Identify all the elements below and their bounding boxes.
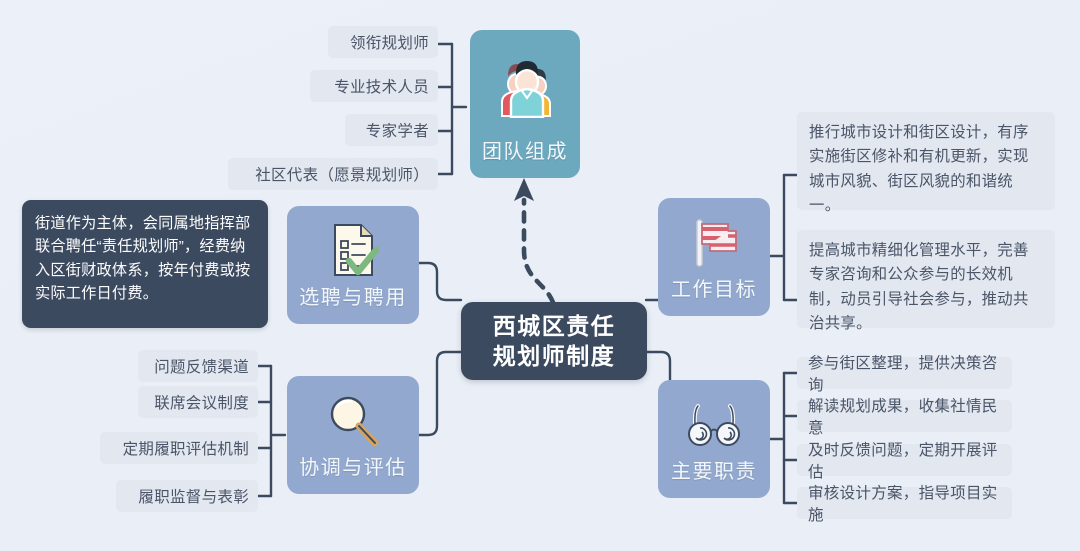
magnifier-icon bbox=[287, 376, 419, 451]
leaf-item-team-0[interactable]: 领衔规划师 bbox=[328, 26, 438, 58]
leaf-item-coordinate-3[interactable]: 履职监督与表彰 bbox=[116, 480, 258, 512]
people-group-icon bbox=[470, 30, 580, 135]
leaf-item-goals-1[interactable]: 提高城市精细化管理水平，完善专家咨询和公众参与的长效机制，动员引导社会参与，推动… bbox=[797, 230, 1055, 328]
branch-label-goals: 工作目标 bbox=[671, 273, 757, 316]
flag-icon bbox=[658, 198, 770, 273]
branch-label-team: 团队组成 bbox=[482, 135, 568, 178]
leaf-item-team-2[interactable]: 专家学者 bbox=[345, 114, 438, 146]
leaf-item-team-1[interactable]: 专业技术人员 bbox=[310, 70, 438, 102]
leaf-item-goals-0[interactable]: 推行城市设计和街区设计，有序实施街区修补和有机更新，实现城市风貌、街区风貌的和谐… bbox=[797, 112, 1055, 210]
leaf-item-duties-3[interactable]: 审核设计方案，指导项目实施 bbox=[797, 487, 1012, 519]
branch-node-coordinate[interactable]: 协调与评估 bbox=[287, 376, 419, 494]
branch-label-recruit: 选聘与聘用 bbox=[299, 281, 407, 324]
glasses-icon bbox=[658, 380, 770, 455]
branch-label-coordinate: 协调与评估 bbox=[299, 451, 407, 494]
leaf-item-coordinate-1[interactable]: 联席会议制度 bbox=[138, 386, 258, 418]
leaf-item-duties-2[interactable]: 及时反馈问题，定期开展评估 bbox=[797, 444, 1012, 476]
dashed-arrow-head bbox=[514, 178, 534, 201]
branch-node-goals[interactable]: 工作目标 bbox=[658, 198, 770, 316]
center-node[interactable]: 西城区责任 规划师制度 bbox=[461, 302, 647, 380]
checklist-document-icon bbox=[287, 206, 419, 281]
branch-label-duties: 主要职责 bbox=[671, 455, 757, 498]
leaf-item-coordinate-2[interactable]: 定期履职评估机制 bbox=[100, 432, 258, 464]
leaf-item-team-3[interactable]: 社区代表（愿景规划师） bbox=[228, 158, 438, 190]
employment-note-box: 街道作为主体，会同属地指挥部联合聘任“责任规划师”，经费纳入区街财政体系，按年付… bbox=[22, 200, 268, 328]
leaf-item-coordinate-0[interactable]: 问题反馈渠道 bbox=[138, 350, 258, 382]
branch-node-duties[interactable]: 主要职责 bbox=[658, 380, 770, 498]
branch-node-team[interactable]: 团队组成 bbox=[470, 30, 580, 178]
branch-node-recruit[interactable]: 选聘与聘用 bbox=[287, 206, 419, 324]
center-node-label: 西城区责任 规划师制度 bbox=[493, 311, 616, 372]
employment-note-text: 街道作为主体，会同属地指挥部联合聘任“责任规划师”，经费纳入区街财政体系，按年付… bbox=[35, 215, 250, 302]
leaf-item-duties-0[interactable]: 参与街区整理，提供决策咨询 bbox=[797, 357, 1012, 389]
leaf-item-duties-1[interactable]: 解读规划成果，收集社情民意 bbox=[797, 400, 1012, 432]
mindmap-canvas: 西城区责任 规划师制度 街道作为主体，会同属地指挥部联合聘任“责任规划师”，经费… bbox=[0, 0, 1080, 551]
